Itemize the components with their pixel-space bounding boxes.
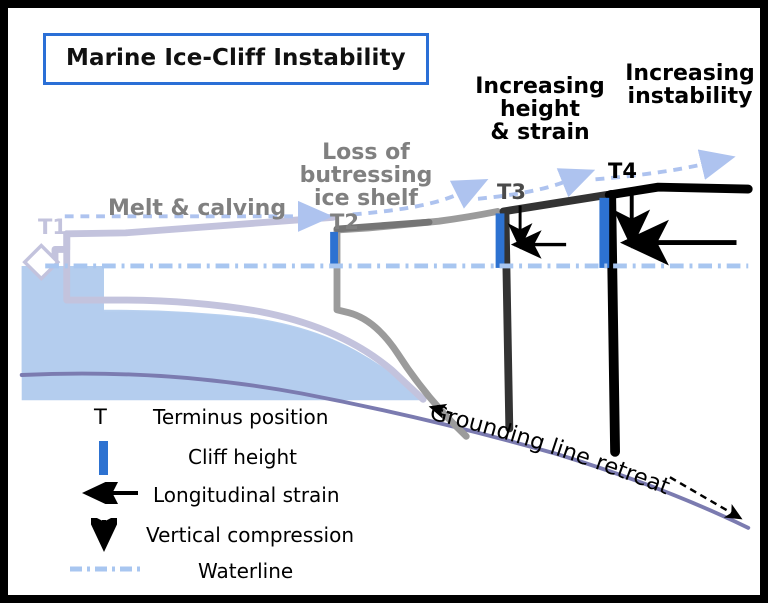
loss-buttressing-label: Loss of butressing ice shelf (300, 142, 433, 211)
legend-label: Longitudinal strain (153, 483, 340, 507)
dashdot-line-icon (68, 564, 142, 574)
legend-label: Vertical compression (146, 523, 354, 547)
grounding-line-retreat: Grounding line retreat (427, 400, 740, 518)
ice-profile-t4 (599, 187, 748, 452)
page-title: Marine Ice-Cliff Instability (66, 45, 406, 71)
cliff-bar-t4 (599, 198, 609, 268)
title-box: Marine Ice-Cliff Instability (43, 33, 429, 85)
legend-label: Waterline (198, 559, 293, 583)
letter-t-icon: T (94, 405, 107, 429)
legend-row: Longitudinal strain (68, 476, 398, 516)
diagram-frame: Grounding line retreat Marine Ice-Cliff … (0, 0, 768, 603)
left-arrow-icon (76, 482, 142, 504)
down-arrow-icon (91, 518, 117, 558)
cliff-bar-t2 (330, 232, 338, 267)
grounding-line-retreat-text: Grounding line retreat (427, 400, 673, 500)
increasing-instability-label: Increasing instability (625, 63, 755, 109)
ice-profile-t3 (496, 195, 608, 429)
legend-row: Cliff height (68, 440, 398, 476)
melt-calving-label: Melt & calving (108, 198, 286, 221)
terminus-label-t3: T3 (497, 180, 526, 204)
increasing-height-label: Increasing height & strain (475, 76, 605, 145)
blue-bar-icon (99, 441, 108, 475)
legend-label: Cliff height (188, 445, 297, 469)
legend-row: T Terminus position (68, 404, 398, 440)
legend-row: Waterline (68, 556, 398, 592)
cliff-bar-t3 (496, 213, 505, 268)
legend-row: Vertical compression (68, 516, 398, 556)
legend: T Terminus position Cliff height Longitu… (68, 404, 398, 592)
terminus-label-t4: T4 (608, 159, 637, 183)
legend-label: Terminus position (153, 405, 328, 429)
grounding-line-retreat-label: Grounding line retreat (427, 400, 673, 500)
terminus-label-t2: T2 (330, 210, 359, 234)
terminus-label-t1: T1 (38, 215, 67, 239)
